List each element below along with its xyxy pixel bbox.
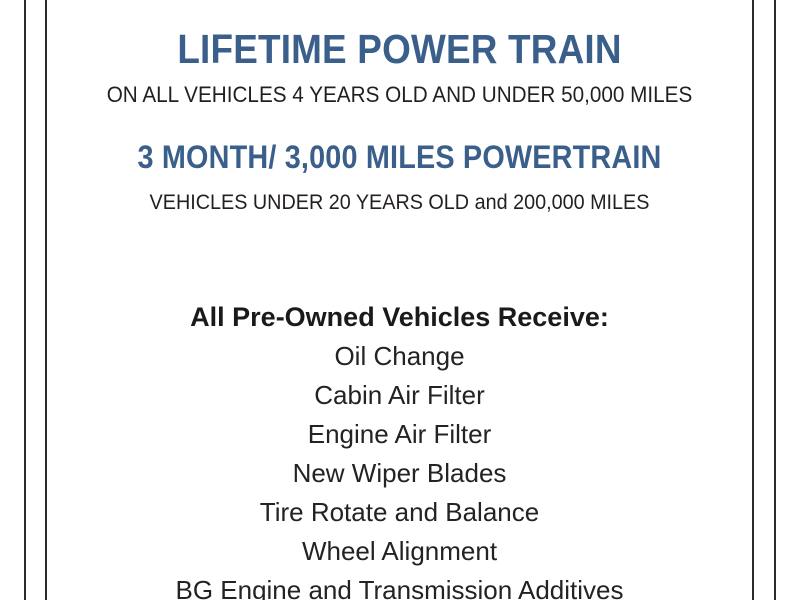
- service-item: New Wiper Blades: [47, 454, 752, 493]
- flyer-content-column: LIFETIME POWER TRAIN ON ALL VEHICLES 4 Y…: [47, 0, 752, 600]
- included-services-title: All Pre-Owned Vehicles Receive:: [47, 298, 752, 337]
- lifetime-powertrain-eligibility-text: ON ALL VEHICLES 4 YEARS OLD AND UNDER 50…: [75, 84, 724, 107]
- service-item: Wheel Alignment: [47, 532, 752, 571]
- service-item: BG Engine and Transmission Additives: [47, 571, 752, 600]
- service-item: Tire Rotate and Balance: [47, 493, 752, 532]
- right-outer-border-rule: [774, 0, 776, 600]
- service-item: Oil Change: [47, 337, 752, 376]
- right-inner-border-rule: [752, 0, 754, 600]
- lifetime-powertrain-headline: LIFETIME POWER TRAIN: [82, 29, 717, 70]
- flyer-canvas: LIFETIME POWER TRAIN ON ALL VEHICLES 4 Y…: [0, 0, 800, 600]
- included-services-block: All Pre-Owned Vehicles Receive: Oil Chan…: [47, 298, 752, 600]
- three-month-powertrain-eligibility-text: VEHICLES UNDER 20 YEARS OLD and 200,000 …: [75, 192, 724, 214]
- service-item: Engine Air Filter: [47, 415, 752, 454]
- three-month-powertrain-headline: 3 MONTH/ 3,000 MILES POWERTRAIN: [82, 141, 717, 173]
- left-outer-border-rule: [24, 0, 26, 600]
- service-item: Cabin Air Filter: [47, 376, 752, 415]
